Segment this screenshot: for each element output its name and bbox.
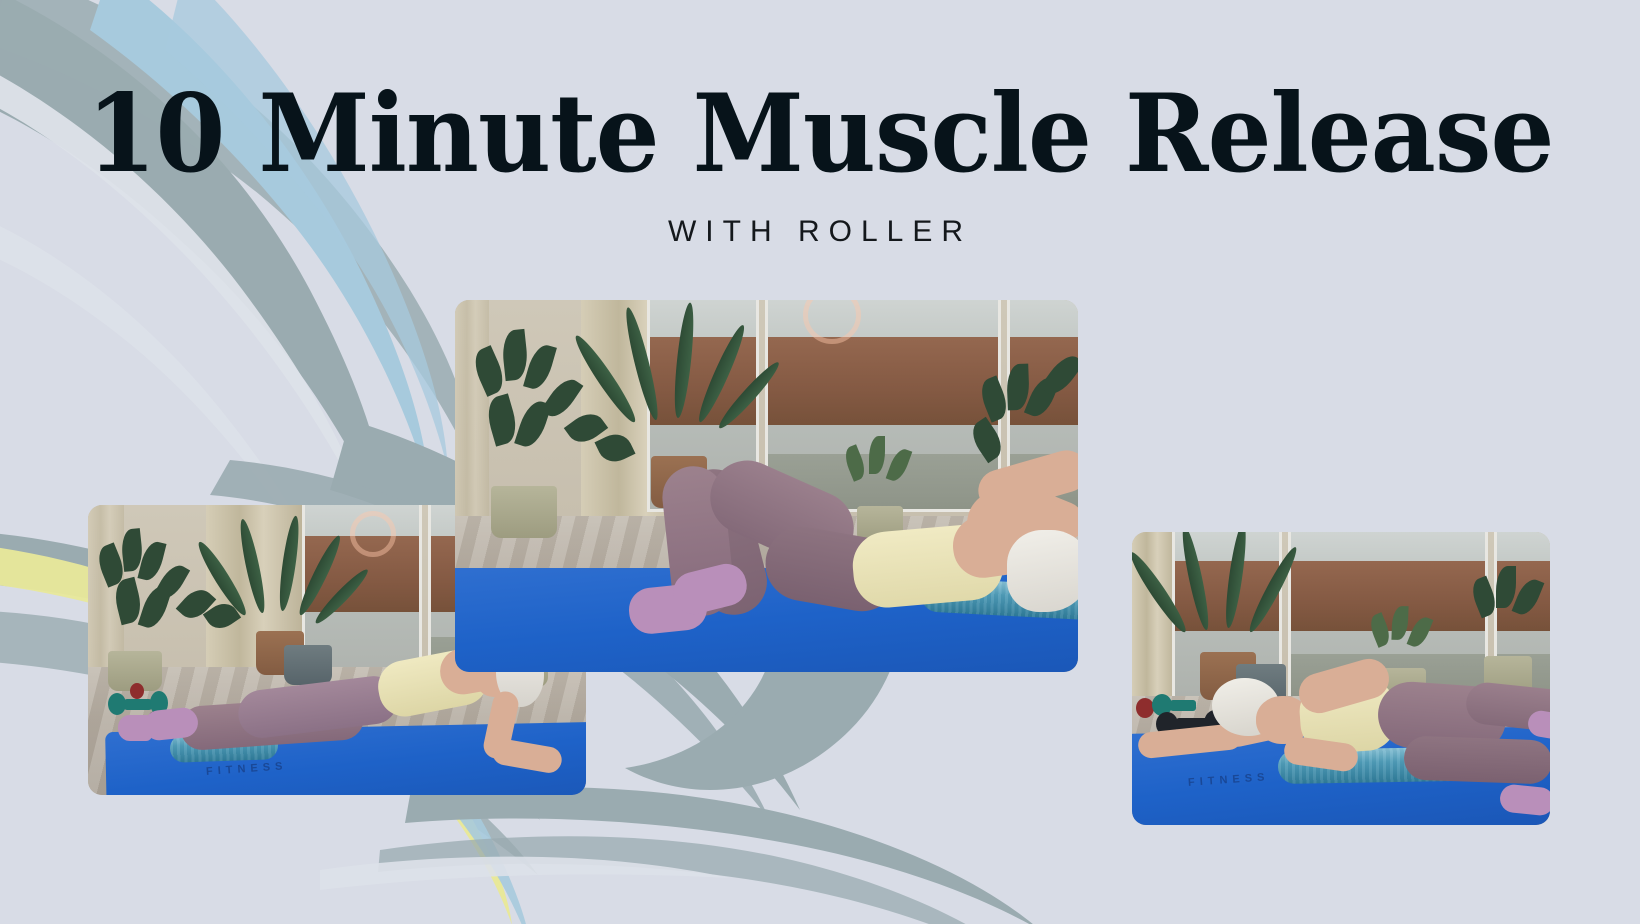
title-block: 10 Minute Muscle Release WITH ROLLER <box>0 78 1640 249</box>
page-subtitle: WITH ROLLER <box>0 215 1640 249</box>
page-title: 10 Minute Muscle Release <box>57 78 1582 191</box>
photo-card-supine-upper-back <box>455 300 1078 672</box>
photo-card-side-lying-lat: FITNESS <box>1132 532 1550 825</box>
poster-canvas: 10 Minute Muscle Release WITH ROLLER <box>0 0 1640 924</box>
